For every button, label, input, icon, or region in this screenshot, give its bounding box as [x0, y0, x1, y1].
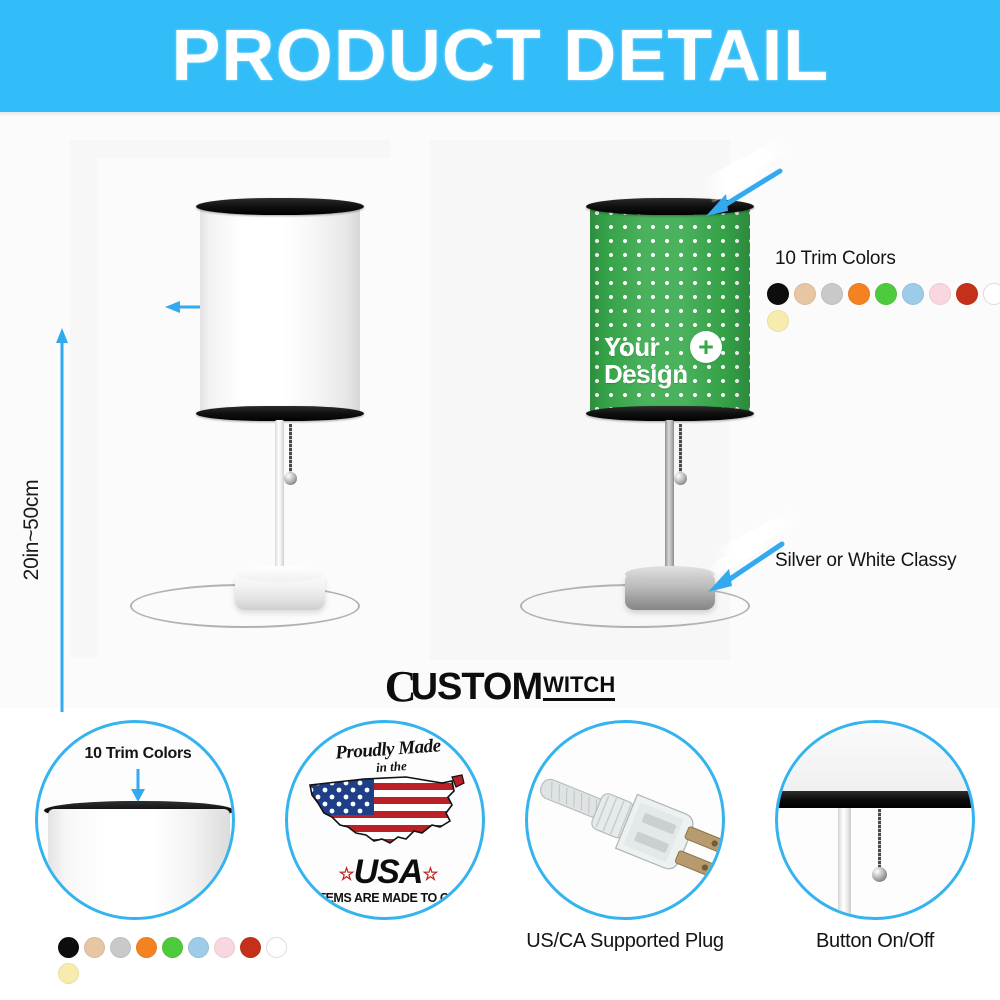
trim-swatch-white[interactable] [983, 283, 1000, 305]
green-lamp-trim-bottom [586, 406, 754, 421]
white-lamp-pole [275, 420, 284, 590]
plug-circle [525, 720, 725, 920]
green-lamp-chain-ball [674, 472, 687, 485]
trim-swatch-light-blue[interactable] [902, 283, 924, 305]
usa-map-flag-icon [302, 769, 474, 855]
trim-swatch-green[interactable] [875, 283, 897, 305]
bottom-swatch-light-blue[interactable] [188, 937, 209, 958]
bottom-swatch-row-1 [58, 937, 278, 958]
trim-swatch-gray[interactable] [821, 283, 843, 305]
panel-trim-arrow [126, 767, 150, 803]
trim-colors-arrow [700, 166, 786, 218]
white-lamp-trim-top [196, 198, 364, 215]
button-chain-ball[interactable] [872, 867, 887, 882]
green-lamp-pull-chain [679, 424, 682, 476]
green-lamp-pole [665, 420, 674, 590]
bottom-swatch-green[interactable] [162, 937, 183, 958]
logo-witch-block: WITCH [543, 674, 615, 701]
logo-custom-text: USTOM [411, 668, 543, 706]
brand-logo: C USTOM WITCH [0, 664, 1000, 710]
white-shade-surface [200, 206, 360, 416]
trim-swatch-red[interactable] [956, 283, 978, 305]
trim-swatch-yellow[interactable] [767, 310, 789, 332]
plug-panel: US/CA Supported Plug [500, 712, 750, 1000]
button-pull-chain[interactable] [878, 809, 881, 871]
trim-swatch-tan[interactable] [794, 283, 816, 305]
plug-panel-caption: US/CA Supported Plug [500, 930, 750, 953]
green-lamp-shade: Your Design + [590, 206, 750, 416]
bottom-trim-swatch-list [58, 937, 278, 989]
bottom-swatch-red[interactable] [240, 937, 261, 958]
logo-witch-text: WITCH [543, 674, 615, 696]
product-stage: 7in~18cm 20in~50cm Your Design [0, 118, 1000, 708]
bottom-swatch-black[interactable] [58, 937, 79, 958]
trim-colors-panel: 10 Trim Colors [10, 712, 260, 1000]
made-in-usa-panel: Proudly Made in the [260, 712, 510, 1000]
design-line-2: Design [604, 359, 688, 389]
made-in-usa-circle: Proudly Made in the [285, 720, 485, 920]
header-banner: PRODUCT DETAIL [0, 0, 1000, 112]
plus-icon: + [690, 331, 722, 363]
usa-word: ☆USA☆ [288, 855, 485, 889]
white-lamp-base [235, 572, 325, 610]
white-lamp [165, 206, 395, 636]
panel-trim-colors-label: 10 Trim Colors [38, 745, 235, 763]
trim-swatch-pink[interactable] [929, 283, 951, 305]
button-panel: Button On/Off [750, 712, 1000, 1000]
trim-swatch-orange[interactable] [848, 283, 870, 305]
feature-panels: 10 Trim Colors [0, 712, 1000, 1000]
bottom-swatch-tan[interactable] [84, 937, 105, 958]
white-lamp-pull-chain [289, 424, 292, 476]
panel-shade-body [48, 809, 230, 920]
button-panel-shade [775, 723, 975, 795]
design-line-1: Your [604, 332, 659, 362]
trim-colors-swatch-list [767, 283, 1000, 337]
trim-colors-circle: 10 Trim Colors [35, 720, 235, 920]
bottom-swatch-orange[interactable] [136, 937, 157, 958]
power-plug-icon [528, 723, 725, 920]
logo-underline [543, 698, 615, 701]
page-title: PRODUCT DETAIL [171, 20, 829, 92]
usa-word-text: USA [354, 853, 423, 891]
stage-tile-a [70, 140, 390, 158]
bottom-swatch-pink[interactable] [214, 937, 235, 958]
white-lamp-trim-bottom [196, 406, 364, 421]
base-finish-label: Silver or White Classy [775, 550, 956, 572]
button-panel-pole [838, 808, 851, 920]
stage-tile-b [70, 158, 98, 658]
white-lamp-shade [200, 206, 360, 416]
white-lamp-chain-ball [284, 472, 297, 485]
trim-swatch-row-2 [767, 310, 1000, 332]
white-lamp-base-top [235, 566, 325, 582]
button-panel-trim [775, 791, 975, 808]
trim-colors-title: 10 Trim Colors [775, 248, 896, 270]
bottom-swatch-gray[interactable] [110, 937, 131, 958]
bottom-swatch-yellow[interactable] [58, 963, 79, 984]
usa-star-left: ☆ [338, 864, 353, 884]
trim-swatch-row-1 [767, 283, 1000, 305]
trim-swatch-black[interactable] [767, 283, 789, 305]
usa-star-right: ☆ [422, 864, 437, 884]
bottom-swatch-row-2 [58, 963, 278, 984]
button-panel-caption: Button On/Off [750, 930, 1000, 953]
height-dimension-label: 20in~50cm [20, 450, 44, 610]
button-circle [775, 720, 975, 920]
usa-subtext: ALL ITEMS ARE MADE TO ORDER! [288, 891, 485, 905]
